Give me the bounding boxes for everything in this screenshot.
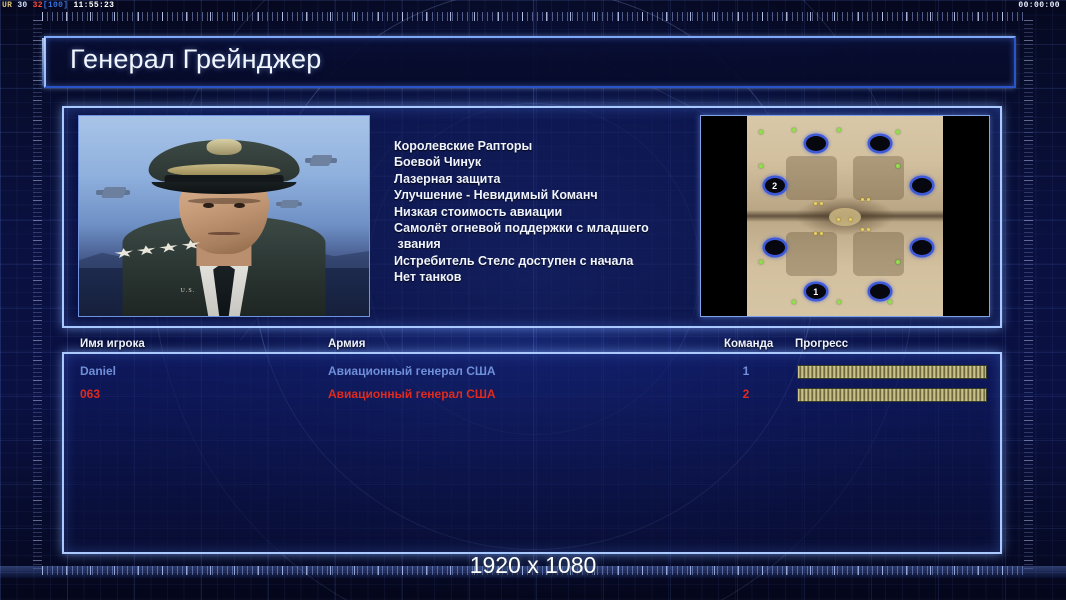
page-title: Генерал Грейнджер bbox=[70, 44, 321, 75]
player-army: Авиационный генерал США bbox=[328, 387, 496, 401]
map-start-position bbox=[806, 136, 826, 151]
map-oil-derrick-dot bbox=[861, 198, 864, 201]
map-terrain-patch bbox=[786, 232, 837, 276]
map-supply-dot bbox=[896, 130, 900, 134]
general-portrait: U.S. bbox=[78, 115, 370, 317]
map-oil-derrick-dot bbox=[867, 198, 870, 201]
map-start-position-label: 2 bbox=[765, 181, 785, 191]
map-oil-derrick-dot bbox=[861, 228, 864, 231]
table-row[interactable]: DanielАвиационный генерал США1 bbox=[64, 360, 1000, 383]
hud-status-left: UR 30 32[100] 11:55:23 bbox=[2, 1, 114, 10]
player-rows: DanielАвиационный генерал США1063Авиацио… bbox=[64, 360, 1000, 406]
map-oil-derrick-dot bbox=[867, 228, 870, 231]
aircraft-icon bbox=[96, 190, 130, 195]
map-start-position bbox=[912, 240, 932, 255]
map-start-position: 1 bbox=[806, 284, 826, 299]
map-terrain-patch bbox=[853, 232, 904, 276]
player-army: Авиационный генерал США bbox=[328, 364, 496, 378]
map-oil-derrick-dot bbox=[820, 202, 823, 205]
map-start-position bbox=[870, 284, 890, 299]
map-supply-dot bbox=[759, 164, 763, 168]
ability-item: Лазерная защита bbox=[394, 171, 704, 187]
ability-item: Истребитель Стелс доступен с начала bbox=[394, 253, 704, 269]
map-supply-dot bbox=[837, 128, 841, 132]
player-progress-bar bbox=[797, 365, 987, 379]
cap-eagle-insignia-icon bbox=[207, 139, 242, 155]
ability-item: Самолёт огневой поддержки с младшего зва… bbox=[394, 220, 704, 253]
minimap-image: 21 bbox=[747, 116, 943, 316]
map-oil-derrick-dot bbox=[814, 232, 817, 235]
ability-list-items: Королевские РапторыБоевой ЧинукЛазерная … bbox=[394, 138, 704, 286]
player-team: 2 bbox=[736, 387, 756, 401]
map-start-position-label: 1 bbox=[806, 287, 826, 297]
uniform-us-label: U.S. bbox=[181, 288, 196, 294]
player-team: 1 bbox=[736, 364, 756, 378]
minimap-frame[interactable]: 21 bbox=[700, 115, 990, 317]
player-name: 063 bbox=[80, 387, 100, 401]
column-header-progress: Прогресс bbox=[795, 338, 848, 350]
hud-prefix: UR bbox=[2, 1, 12, 10]
ability-item: Низкая стоимость авиации bbox=[394, 204, 704, 220]
player-name: Daniel bbox=[80, 364, 116, 378]
map-oil-derrick-dot bbox=[814, 202, 817, 205]
hud-clock: 11:55:23 bbox=[73, 1, 114, 10]
map-supply-dot bbox=[888, 300, 892, 304]
ruler-top bbox=[42, 12, 1024, 21]
table-header: Имя игрокаАрмияКомандаПрогресс bbox=[80, 338, 986, 352]
general-info-panel: U.S. Королевские РапторыБоевой ЧинукЛазе… bbox=[62, 106, 1002, 328]
map-start-position: 2 bbox=[765, 178, 785, 193]
portrait-brow bbox=[188, 198, 261, 204]
table-row[interactable]: 063Авиационный генерал США2 bbox=[64, 383, 1000, 406]
map-supply-dot bbox=[759, 260, 763, 264]
hud-value-1: 30 bbox=[17, 1, 27, 10]
column-header-army: Армия bbox=[328, 338, 365, 350]
player-list-panel: Имя игрокаАрмияКомандаПрогресс DanielАви… bbox=[62, 352, 1002, 554]
aircraft-icon-3 bbox=[276, 202, 302, 206]
ability-list: Королевские РапторыБоевой ЧинукЛазерная … bbox=[394, 138, 704, 286]
portrait-mouth bbox=[208, 232, 240, 235]
portrait-eye-left bbox=[203, 203, 213, 208]
map-start-position bbox=[912, 178, 932, 193]
game-screen: UR 30 32[100] 11:55:23 00:00:00 Генерал … bbox=[0, 0, 1066, 600]
ruler-right bbox=[1024, 20, 1033, 570]
ability-item: Королевские Рапторы bbox=[394, 138, 704, 154]
map-supply-dot bbox=[896, 164, 900, 168]
hud-clock-right: 00:00:00 bbox=[1018, 1, 1060, 10]
ability-item: Боевой Чинук bbox=[394, 154, 704, 170]
ability-item: Нет танков bbox=[394, 269, 704, 285]
ability-item: Улучшение - Невидимый Команч bbox=[394, 187, 704, 203]
hud-bracket: [100] bbox=[43, 1, 69, 10]
map-supply-dot bbox=[792, 128, 796, 132]
map-terrain-patch bbox=[853, 156, 904, 200]
map-center-oasis bbox=[829, 208, 860, 226]
map-start-position bbox=[870, 136, 890, 151]
map-supply-dot bbox=[759, 130, 763, 134]
title-panel: Генерал Грейнджер bbox=[44, 36, 1016, 88]
map-terrain-patch bbox=[786, 156, 837, 200]
player-progress-bar bbox=[797, 388, 987, 402]
map-oil-derrick-dot bbox=[820, 232, 823, 235]
column-header-player: Имя игрока bbox=[80, 338, 145, 350]
hud-value-2: 32 bbox=[33, 1, 43, 10]
map-supply-dot bbox=[837, 300, 841, 304]
portrait-eye-right bbox=[234, 203, 244, 208]
map-oil-derrick-dot bbox=[849, 218, 852, 221]
map-supply-dot bbox=[896, 260, 900, 264]
column-header-team: Команда bbox=[724, 338, 773, 350]
ruler-left bbox=[33, 20, 42, 570]
map-start-position bbox=[765, 240, 785, 255]
map-supply-dot bbox=[792, 300, 796, 304]
aircraft-icon-2 bbox=[305, 158, 337, 163]
resolution-label: 1920 x 1080 bbox=[0, 552, 1066, 579]
